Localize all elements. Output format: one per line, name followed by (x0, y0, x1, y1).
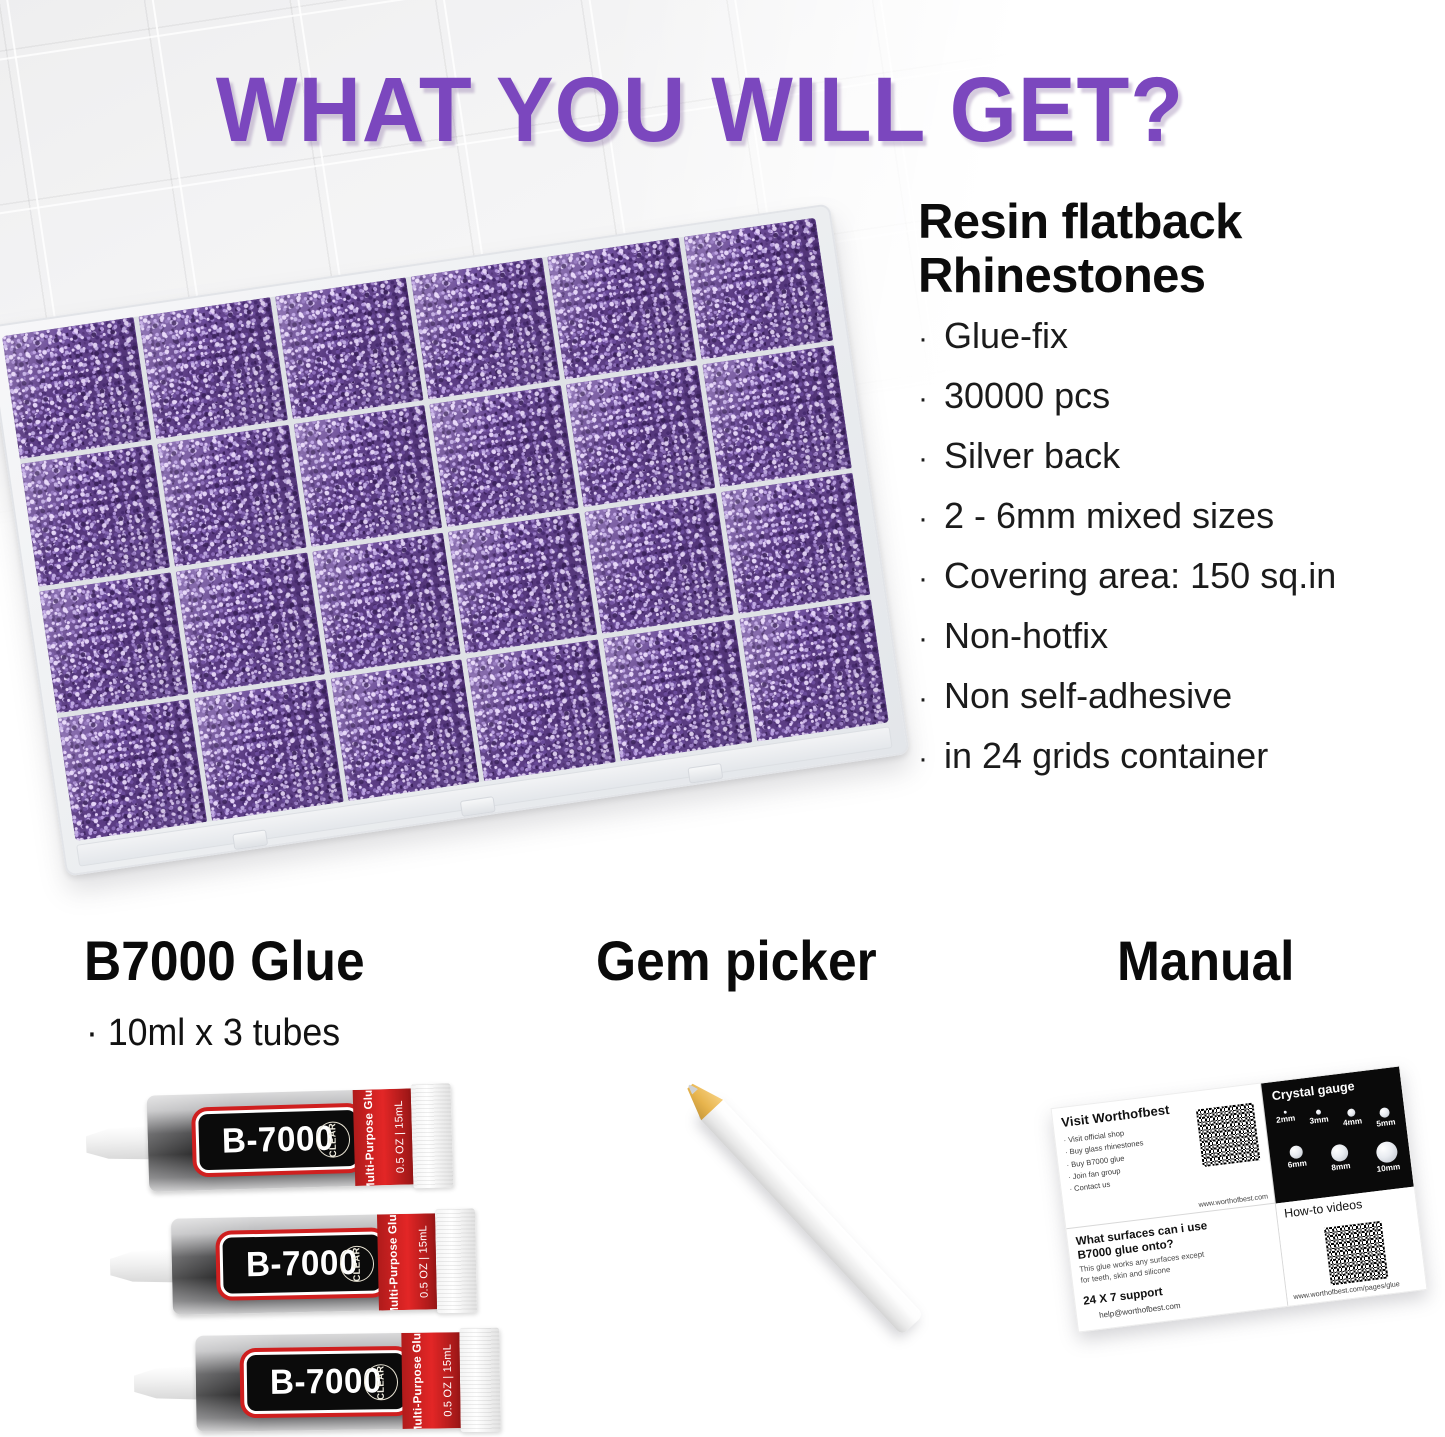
gauge-size-10mm: 10mm (1364, 1139, 1409, 1175)
tube-crimp-cap (459, 1328, 500, 1433)
picker-barrel (697, 1095, 924, 1335)
tube-body: B-7000 CLEAR Multi-Purpose Glue 0.5 OZ |… (195, 1332, 464, 1432)
grid-cell (547, 237, 696, 379)
gauge-label: 4mm (1336, 1116, 1369, 1129)
tube-crimp-cap (435, 1208, 477, 1313)
infographic-page: WHAT YOU WILL GET? (0, 0, 1445, 1437)
bullet-icon: · (918, 444, 944, 474)
tube-red-band: Multi-Purpose Glue 0.5 OZ | 15mL (353, 1088, 418, 1186)
product-feature-column: Resin flatback Rhinestones · Glue-fix · … (918, 196, 1438, 798)
howto-title: How-to videos (1283, 1197, 1363, 1220)
tube-red-band: Multi-Purpose Glue 0.5 OZ | 15mL (377, 1213, 441, 1310)
feature-item: · Silver back (918, 438, 1438, 474)
picker-section-heading: Gem picker (596, 928, 877, 993)
feature-item: · Non self-adhesive (918, 678, 1438, 714)
bullet-icon: · (918, 564, 944, 594)
feature-label: Covering area: 150 sq.in (944, 558, 1336, 594)
grid-cell (430, 385, 579, 527)
product-heading: Resin flatback Rhinestones (918, 196, 1438, 304)
grid-cell (175, 552, 324, 694)
gauge-label: 8mm (1322, 1160, 1361, 1174)
grid-cell (603, 620, 752, 762)
bullet-icon: · (918, 324, 944, 354)
gem-icon (1375, 1140, 1398, 1163)
bullet-icon: · (918, 744, 944, 774)
tube-red-band: Multi-Purpose Glue 0.5 OZ | 15mL (401, 1332, 464, 1429)
gem-icon (1289, 1145, 1303, 1159)
gauge-size-3mm: 3mm (1302, 1108, 1336, 1127)
grid-cell (39, 572, 188, 714)
gem-icon (1330, 1143, 1349, 1162)
feature-label: 30000 pcs (944, 378, 1110, 414)
product-heading-line1: Resin flatback (918, 196, 1438, 250)
gauge-label: 5mm (1370, 1117, 1403, 1130)
tube-purpose-label: Multi-Purpose Glue (411, 1332, 425, 1432)
glue-tube: B-7000 CLEAR Multi-Purpose Glue 0.5 OZ |… (109, 1208, 503, 1320)
bullet-icon: · (918, 504, 944, 534)
crystal-gauge-title: Crystal gauge (1271, 1079, 1355, 1103)
grid-cell (702, 345, 851, 487)
grid-cell (721, 472, 870, 614)
product-feature-list: · Glue-fix · 30000 pcs · Silver back · 2… (918, 318, 1438, 774)
feature-item: · Covering area: 150 sq.in (918, 558, 1438, 594)
feature-label: 2 - 6mm mixed sizes (944, 498, 1274, 534)
grid-cell (740, 600, 889, 742)
tube-crimp-cap (410, 1083, 453, 1188)
grid-cell (411, 257, 560, 399)
gem-icon (1283, 1111, 1286, 1114)
gauge-label: 3mm (1303, 1114, 1336, 1127)
tube-body: B-7000 CLEAR Multi-Purpose Glue 0.5 OZ |… (147, 1088, 418, 1191)
tube-volume-label: 0.5 OZ | 15mL (441, 1344, 454, 1417)
grid-cell (312, 532, 461, 674)
tube-clear-label: CLEAR (351, 1247, 363, 1281)
glue-tube: B-7000 CLEAR Multi-Purpose Glue 0.5 OZ |… (85, 1083, 480, 1198)
feature-label: in 24 grids container (944, 738, 1268, 774)
crystal-gauge-quadrant: Crystal gauge 2mm 3mm 4mm 5mm 6mm (1261, 1067, 1414, 1204)
manual-section-heading: Manual (1117, 928, 1294, 993)
tube-purpose-label: Multi-Purpose Glue (387, 1213, 401, 1315)
grid-cell (585, 492, 734, 634)
grid-cell (194, 679, 343, 821)
feature-label: Non self-adhesive (944, 678, 1232, 714)
bullet-icon: · (918, 384, 944, 414)
grid-cell (566, 365, 715, 507)
feature-label: Glue-fix (944, 318, 1068, 354)
grid-cell (330, 659, 479, 801)
grid-cell (2, 317, 151, 459)
feature-label: Non-hotfix (944, 618, 1108, 654)
rhinestone-container (0, 203, 910, 876)
product-heading-line2: Rhinestones (918, 250, 1438, 304)
tube-body: B-7000 CLEAR Multi-Purpose Glue 0.5 OZ |… (171, 1213, 441, 1315)
tube-volume-label: 0.5 OZ | 15mL (393, 1100, 407, 1173)
gauge-size-2mm: 2mm (1269, 1109, 1302, 1126)
qr-code-icon (1194, 1100, 1263, 1169)
grid-cell (448, 512, 597, 654)
gauge-size-6mm: 6mm (1277, 1144, 1316, 1171)
gauge-size-4mm: 4mm (1335, 1107, 1369, 1129)
bullet-icon: · (918, 624, 944, 654)
gem-icon (1315, 1109, 1321, 1115)
gem-icon (1347, 1108, 1356, 1117)
gauge-label: 6mm (1279, 1157, 1316, 1170)
tube-clear-label: CLEAR (327, 1122, 339, 1157)
grid-cell (684, 218, 833, 360)
grid-cell (21, 444, 170, 586)
feature-item: · Non-hotfix (918, 618, 1438, 654)
feature-item: · 30000 pcs (918, 378, 1438, 414)
gem-icon (1379, 1107, 1390, 1118)
manual-card: Visit Worthofbest · Visit official shop … (1051, 1065, 1428, 1332)
qr-code-icon (1321, 1219, 1390, 1288)
gauge-size-8mm: 8mm (1319, 1142, 1360, 1173)
glue-quantity-label: · 10ml x 3 tubes (86, 1012, 340, 1055)
feature-item: · Glue-fix (918, 318, 1438, 354)
grid-cell (138, 297, 287, 439)
glue-tube: B-7000 CLEAR Multi-Purpose Glue 0.5 OZ |… (133, 1327, 526, 1436)
feature-item: · 2 - 6mm mixed sizes (918, 498, 1438, 534)
tube-purpose-label: Multi-Purpose Glue (362, 1088, 377, 1191)
gem-picker-tool (678, 1075, 925, 1337)
grid-cell (275, 277, 424, 419)
gauge-size-5mm: 5mm (1368, 1106, 1402, 1130)
tube-clear-label: CLEAR (375, 1365, 386, 1399)
grid-cell (58, 699, 207, 841)
glue-section-heading: B7000 Glue (84, 928, 365, 993)
grid-cell (467, 640, 616, 782)
grid-cell (157, 425, 306, 567)
feature-item: · in 24 grids container (918, 738, 1438, 774)
feature-label: Silver back (944, 438, 1120, 474)
grid-cell (293, 405, 442, 547)
tube-volume-label: 0.5 OZ | 15mL (417, 1225, 431, 1298)
page-title: WHAT YOU WILL GET? (42, 58, 1358, 163)
manual-howto-quadrant: How-to videos www.worthofbest.com/pages/… (1276, 1187, 1426, 1306)
bullet-icon: · (918, 684, 944, 714)
gauge-label: 10mm (1367, 1161, 1410, 1175)
gauge-label: 2mm (1269, 1113, 1302, 1126)
